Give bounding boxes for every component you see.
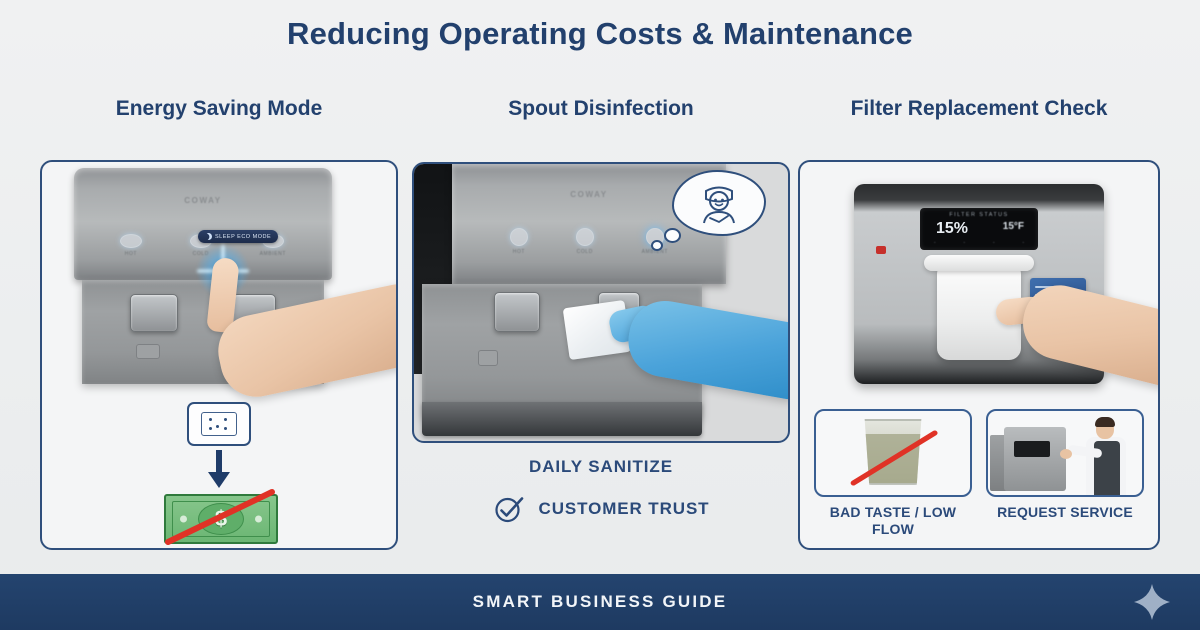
glove-forearm	[623, 295, 790, 400]
panel-spout-disinfection: COWAY HOT COLD AMBIENT	[412, 162, 790, 443]
bubble-dot-small	[651, 240, 663, 251]
subcard-label-bad-taste: BAD TASTE / LOW FLOW	[814, 504, 972, 538]
panel-filter-replacement: FILTER STATUS 15% 15°F ◦◦◦◦	[798, 160, 1160, 550]
brand-label: COWAY	[74, 196, 332, 205]
check-circle-icon	[493, 493, 525, 525]
hot-icon	[510, 228, 528, 246]
service-dispenser	[1004, 427, 1066, 491]
person-icon	[696, 184, 742, 224]
sparkle-icon	[1132, 582, 1172, 622]
display-percent: 15%	[936, 220, 968, 238]
cold-icon	[576, 228, 594, 246]
column-heading-1: Energy Saving Mode	[40, 96, 398, 152]
mode-button-hot[interactable]: HOT	[510, 228, 528, 255]
strike-through-icon	[816, 411, 970, 495]
mode-label-hot: HOT	[513, 249, 525, 255]
gloved-hand	[610, 302, 790, 422]
banknote-icon: $	[164, 494, 278, 544]
column-spout-disinfection: Spout Disinfection COWAY HOT COLD	[412, 96, 790, 525]
customer-trust-label: CUSTOMER TRUST	[539, 499, 710, 519]
technician-figure	[1076, 417, 1136, 495]
red-indicator	[876, 246, 886, 254]
filter-cap	[924, 255, 1034, 271]
hot-icon	[120, 234, 142, 248]
moon-icon	[205, 233, 212, 240]
subcard-bad-taste[interactable]: BAD TASTE / LOW FLOW	[814, 409, 972, 538]
mode-label-ambient: AMBIENT	[260, 251, 286, 257]
filter-status-display: FILTER STATUS 15% 15°F ◦◦◦◦	[920, 208, 1038, 250]
mode-button-hot[interactable]: HOT	[120, 234, 142, 257]
display-title: FILTER STATUS	[920, 212, 1038, 218]
energy-flow-graphic: $ SAVE ELECTRICITY	[42, 402, 396, 550]
slide-root: Reducing Operating Costs & Maintenance E…	[0, 0, 1200, 630]
mode-button-cold[interactable]: COLD	[576, 228, 594, 255]
service-dispenser-screen	[1014, 441, 1050, 457]
footer-banner: SMART BUSINESS GUIDE	[0, 574, 1200, 630]
display-icon-row: ◦◦◦◦	[920, 240, 1038, 246]
display-temp: 15°F	[1003, 221, 1024, 232]
drip-tray-badge	[136, 344, 160, 359]
column-energy-saving: Energy Saving Mode COWAY HOT COLD	[40, 96, 398, 550]
bubble-dot-large	[664, 228, 681, 243]
outlet-socket	[201, 412, 237, 436]
arrow-down-icon	[206, 450, 232, 490]
eco-badge-label: SLEEP ECO MODE	[215, 234, 271, 240]
subcard-request-service[interactable]: REQUEST SERVICE	[986, 409, 1144, 538]
thought-bubble	[672, 170, 766, 236]
happy-customer-icon	[672, 170, 766, 236]
forearm	[1015, 278, 1160, 389]
column-heading-3: Filter Replacement Check	[798, 96, 1160, 152]
pointing-hand	[210, 258, 398, 398]
customer-trust-row: CUSTOMER TRUST	[412, 493, 790, 525]
filter-subcards: BAD TASTE / LOW FLOW	[814, 409, 1144, 538]
spout-left	[130, 294, 178, 332]
subcard-label-request-service: REQUEST SERVICE	[986, 504, 1144, 521]
caption-daily-sanitize: DAILY SANITIZE	[412, 457, 790, 477]
spout-left	[494, 292, 540, 332]
pointing-hand	[996, 290, 1160, 410]
mode-label-cold: COLD	[577, 249, 593, 255]
eco-mode-badge[interactable]: SLEEP ECO MODE	[198, 230, 278, 243]
subcard-image-bad-taste	[814, 409, 972, 497]
drip-tray-badge	[478, 350, 498, 366]
panel-energy-saving: COWAY HOT COLD AMBIENT	[40, 160, 398, 550]
column-filter-replacement: Filter Replacement Check FILTER STATUS 1…	[798, 96, 1160, 550]
column-heading-2: Spout Disinfection	[412, 96, 790, 152]
mode-label-hot: HOT	[125, 251, 137, 257]
technician-service-icon	[988, 411, 1142, 495]
footer-label: SMART BUSINESS GUIDE	[473, 592, 728, 612]
power-outlet-icon	[187, 402, 251, 446]
page-title: Reducing Operating Costs & Maintenance	[0, 16, 1200, 52]
subcard-image-request-service	[986, 409, 1144, 497]
forearm	[212, 283, 398, 404]
